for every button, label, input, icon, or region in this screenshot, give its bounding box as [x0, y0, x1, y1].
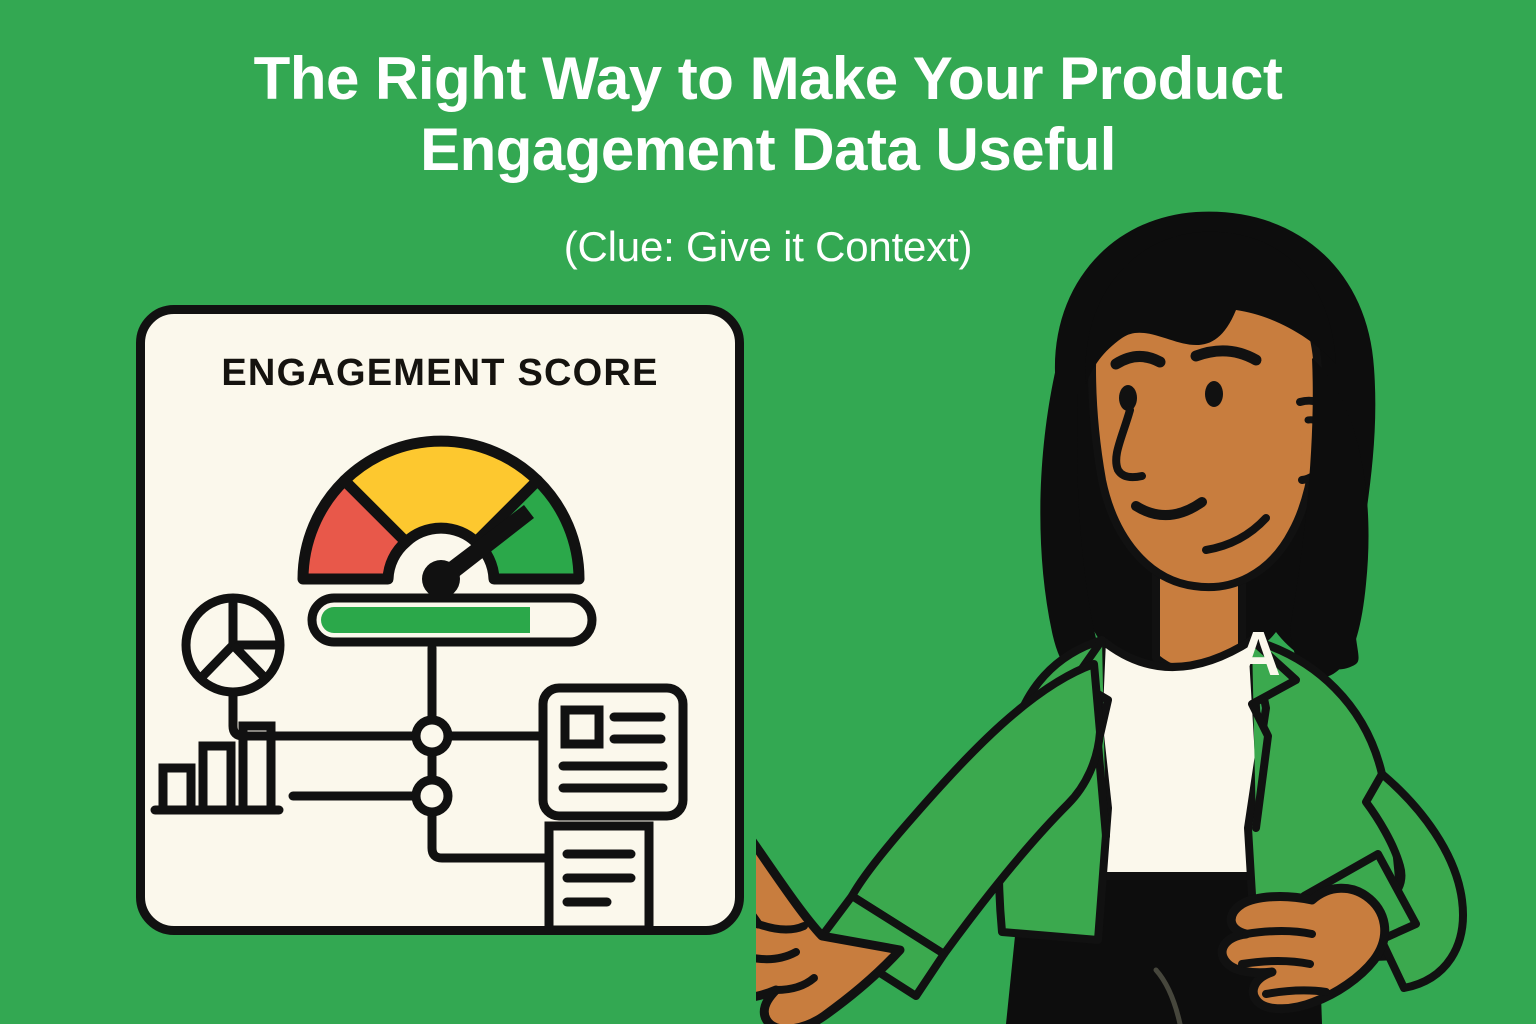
engagement-gauge [281, 424, 601, 594]
jacket-badge-letter: A [1236, 624, 1281, 686]
infographic-canvas: The Right Way to Make Your Product Engag… [0, 0, 1536, 1024]
eye-right [1205, 381, 1223, 407]
engagement-dashboard-card: ENGAGEMENT SCORE [136, 305, 744, 935]
progress-bar-fill [321, 607, 530, 633]
connector-lines [233, 648, 549, 858]
title-line-2: Engagement Data Useful [90, 115, 1446, 186]
card-title: ENGAGEMENT SCORE [145, 352, 735, 395]
report-card-widget[interactable] [543, 688, 683, 816]
dashboard-widgets [145, 586, 735, 926]
document-widget[interactable] [549, 826, 649, 926]
engagement-progress-bar[interactable] [312, 598, 592, 642]
presenter-illustration [756, 188, 1536, 1024]
page-title: The Right Way to Make Your Product Engag… [0, 44, 1536, 186]
title-line-1: The Right Way to Make Your Product [90, 44, 1446, 115]
pie-chart-icon [186, 598, 280, 692]
